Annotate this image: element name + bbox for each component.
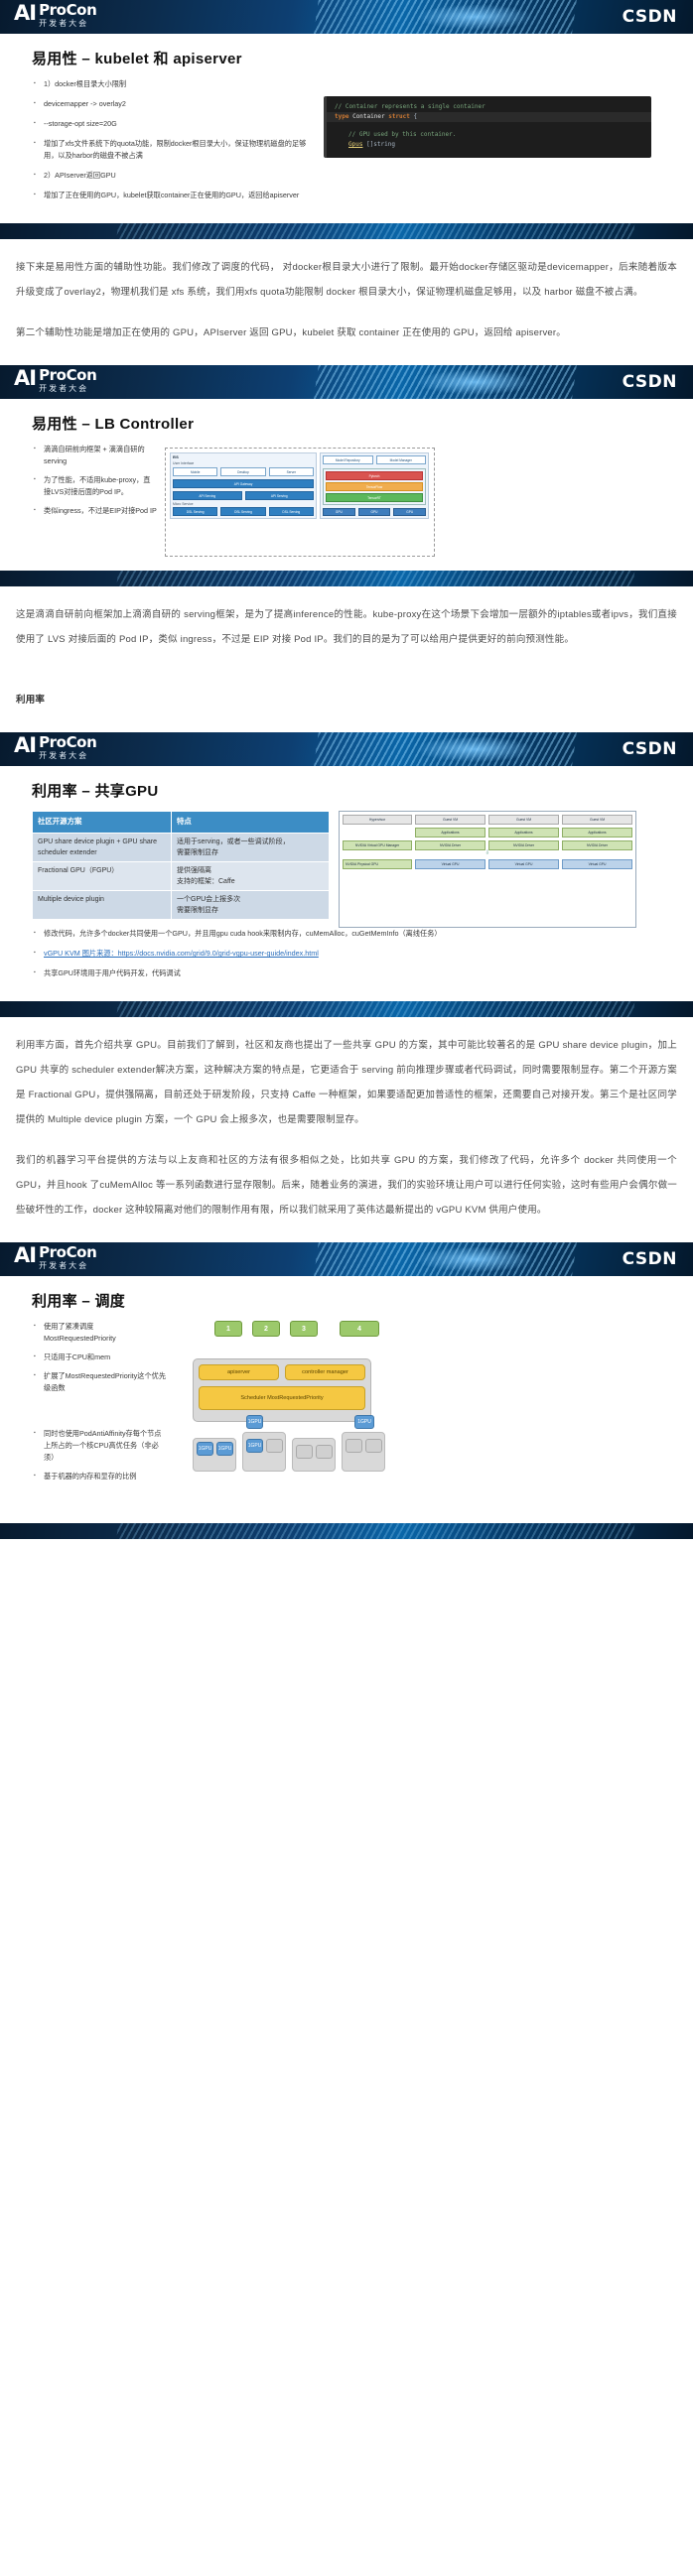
micro-service-label: Micro Service xyxy=(173,502,314,506)
gpu-3: GPU xyxy=(393,508,426,516)
page-title: 利用率 – 调度 xyxy=(32,1290,675,1311)
applications-3: Applications xyxy=(562,828,632,837)
bullet-list: 1）docker根目录大小限制 devicemapper -> overlay2… xyxy=(18,78,316,201)
code-comment-line: // Container represents a single contain… xyxy=(335,102,643,112)
guest-vm-1: Guest VM xyxy=(415,815,485,825)
gpu-empty-slot xyxy=(296,1445,313,1459)
framework-tensorrt: TensorRT xyxy=(326,493,423,502)
footer-rays-decoration xyxy=(113,1001,637,1017)
slide-footer-banner xyxy=(0,571,693,586)
virtual-gpu-2: Virtual GPU xyxy=(488,859,559,869)
code-brace: { xyxy=(414,113,418,120)
logo-mark: AI xyxy=(14,735,36,756)
logo-name: ProCon xyxy=(39,368,96,383)
client-mobile: Mobile xyxy=(173,467,217,476)
node-gpu-group-1: 1GPU 1GPU xyxy=(193,1438,236,1472)
code-struct-line: type Container struct { xyxy=(327,112,651,122)
column-header-solution: 社区开源方案 xyxy=(33,812,172,834)
csdn-logo: CSDN xyxy=(623,1249,677,1269)
nvidia-driver-2: NVIDIA Driver xyxy=(488,840,559,850)
nvidia-driver-1: NVIDIA Driver xyxy=(415,840,485,850)
go-code-snippet: // Container represents a single contain… xyxy=(324,96,651,158)
list-item: 增加了xfs文件系统下的quota功能，限制docker根目录大小，保证物理机磁… xyxy=(34,138,316,162)
footer-rays-decoration xyxy=(113,571,637,586)
guest-vm-3: Guest VM xyxy=(562,815,632,825)
model-manager: Model Manager xyxy=(376,455,427,464)
list-item: --storage-opt size=20G xyxy=(34,118,316,130)
logo-subtitle: 开发者大会 xyxy=(39,751,96,761)
cell-feature: 适用于serving，或者一些调试阶段， 需要限制显存 xyxy=(172,834,330,862)
slide-banner: AI ProCon 开发者大会 CSDN xyxy=(0,1242,693,1276)
list-item: 共享GPU环境用于用户代码开发，代码调试 xyxy=(34,967,675,979)
gpu-empty-slot xyxy=(316,1445,333,1459)
cell-solution: Multiple device plugin xyxy=(33,891,172,920)
logo-name: ProCon xyxy=(39,3,96,18)
slide-share-gpu: AI ProCon 开发者大会 CSDN 利用率 – 共享GPU 社区开源方案 … xyxy=(0,732,693,1017)
logo-mark: AI xyxy=(14,368,36,389)
csdn-logo: CSDN xyxy=(623,739,677,759)
nvidia-physical-gpu: NVIDIA Physical GPU xyxy=(343,859,412,869)
node-1: 1 xyxy=(214,1321,242,1337)
virtual-gpu-1: Virtual GPU xyxy=(415,859,485,869)
list-item: 类似ingress，不过是EIP对接Pod IP xyxy=(34,505,157,517)
node-gpu-group-4: 1GPU xyxy=(342,1432,385,1472)
list-item-vgpu-link[interactable]: vGPU KVM 图片来源：https://docs.nvidia.com/gr… xyxy=(34,948,675,960)
slide-footer-banner xyxy=(0,223,693,239)
logo-mark: AI xyxy=(14,1245,36,1266)
opensource-solutions-table: 社区开源方案 特点 GPU share device plugin + GPU … xyxy=(32,811,330,920)
client-server: Server xyxy=(269,467,314,476)
code-identifier: Container xyxy=(352,113,385,120)
page-title: 易用性 – LB Controller xyxy=(32,413,675,434)
virtual-gpu-3: Virtual GPU xyxy=(562,859,632,869)
narration-paragraph: 第二个辅助性功能是增加正在使用的 GPU，APIserver 返回 GPU，ku… xyxy=(16,321,677,345)
footer-rays-decoration xyxy=(113,1523,637,1539)
dsl-serving-3: DSL Serving xyxy=(269,507,314,516)
column-header-feature: 特点 xyxy=(172,812,330,834)
code-field-type: []string xyxy=(366,141,395,148)
logo-subtitle: 开发者大会 xyxy=(39,1261,96,1271)
list-item: 2）APIserver返回GPU xyxy=(34,170,316,182)
node-gpu-group-3 xyxy=(292,1438,336,1472)
page-title: 利用率 – 共享GPU xyxy=(32,780,675,801)
cell-solution: GPU share device plugin + GPU share sche… xyxy=(33,834,172,862)
slide-lb-controller: AI ProCon 开发者大会 CSDN 易用性 – LB Controller… xyxy=(0,365,693,586)
narration-paragraph: 接下来是易用性方面的辅助性功能。我们修改了调度的代码， 对docker根目录大小… xyxy=(16,255,677,305)
logo-subtitle: 开发者大会 xyxy=(39,19,96,29)
client-desktop: Desktop xyxy=(220,467,265,476)
api-serving-1: API Serving xyxy=(173,491,242,500)
narration-paragraph: 利用率方面，首先介绍共享 GPU。目前我们了解到，社区和友商也提出了一些共享 G… xyxy=(16,1033,677,1132)
hypervisor-label: Hypervisor xyxy=(343,815,412,825)
logo-name: ProCon xyxy=(39,1245,96,1260)
api-serving-2: API Serving xyxy=(245,491,315,500)
page-title: 易用性 – kubelet 和 apiserver xyxy=(32,48,675,68)
aiprocon-logo: AI ProCon 开发者大会 xyxy=(14,3,96,29)
logo-mark: AI xyxy=(14,3,36,24)
gpu-label: 1GPU xyxy=(354,1415,374,1429)
nvidia-doc-link[interactable]: vGPU KVM 图片来源：https://docs.nvidia.com/gr… xyxy=(44,949,319,958)
list-item: 使用了紧凑调度 MostRequestedPriority xyxy=(34,1321,167,1345)
narration-section-heading: 利用率 xyxy=(16,688,677,712)
model-panel: Model Repository Model Manager Pytorch T… xyxy=(320,452,429,519)
banner-rays-decoration xyxy=(312,1242,578,1276)
gpu-label: 1GPU xyxy=(246,1415,263,1429)
slide-banner: AI ProCon 开发者大会 CSDN xyxy=(0,365,693,399)
dsl-serving-1: DSL Serving xyxy=(173,507,217,516)
notes-list: 修改代码，允许多个docker共同使用一个GPU，并且用gpu cuda hoo… xyxy=(18,928,675,979)
framework-tensorflow: TensorFlow xyxy=(326,482,423,491)
list-item: 修改代码，允许多个docker共同使用一个GPU，并且用gpu cuda hoo… xyxy=(34,928,675,940)
bullet-list: 滴滴自研前向框架 + 滴滴自研的 serving 为了性能，不适用kube-pr… xyxy=(18,444,157,517)
csdn-logo: CSDN xyxy=(623,372,677,392)
gpu-1: GPU xyxy=(323,508,355,516)
scheduler-diagram: 1 2 3 4 apiserver controller manager Sch… xyxy=(175,1321,473,1509)
aiprocon-logo: AI ProCon 开发者大会 xyxy=(14,1245,96,1271)
guest-vm-2: Guest VM xyxy=(488,815,559,825)
table-row: Multiple device plugin 一个GPU会上报多次 需要限制显存 xyxy=(33,891,330,920)
eis-title: EIS xyxy=(173,455,314,459)
code-field-name: Gpus xyxy=(348,141,362,148)
code-comment-gpu: // GPU used by this container. xyxy=(335,130,456,140)
aiprocon-logo: AI ProCon 开发者大会 xyxy=(14,735,96,761)
gpu-empty-slot xyxy=(346,1439,362,1453)
gpu-empty-slot xyxy=(365,1439,382,1453)
serving-architecture-diagram: EIS User Interface Mobile Desktop Server… xyxy=(165,448,435,557)
gpu-empty-slot xyxy=(266,1439,283,1453)
list-item: 扩展了MostRequestedPriority这个优先级函数 xyxy=(34,1370,167,1394)
slide-banner: AI ProCon 开发者大会 CSDN xyxy=(0,732,693,766)
slide-banner: AI ProCon 开发者大会 CSDN xyxy=(0,0,693,34)
node-4: 4 xyxy=(340,1321,379,1337)
banner-rays-decoration xyxy=(312,732,578,766)
dsl-serving-2: DSL Serving xyxy=(220,507,265,516)
api-gateway-1: API Gateway xyxy=(173,479,314,488)
slide-scheduling: AI ProCon 开发者大会 CSDN 利用率 – 调度 使用了紧凑调度 Mo… xyxy=(0,1242,693,1539)
nvidia-virtual-gpu-manager: NVIDIA Virtual GPU Manager xyxy=(343,840,412,850)
gpu-label: 1GPU xyxy=(216,1442,233,1456)
list-item: 滴滴自研前向框架 + 滴滴自研的 serving xyxy=(34,444,157,467)
banner-rays-decoration xyxy=(312,365,578,399)
node-3: 3 xyxy=(290,1321,318,1337)
banner-rays-decoration xyxy=(312,0,578,34)
slide-kubelet-apiserver: AI ProCon 开发者大会 CSDN 易用性 – kubelet 和 api… xyxy=(0,0,693,239)
gpu-label: 1GPU xyxy=(246,1439,263,1453)
framework-pytorch: Pytorch xyxy=(326,471,423,480)
list-item: 同时也使用PodAntiAffinity存每个节点上所占的一个核CPU高优任务（… xyxy=(34,1428,167,1464)
control-plane-panel: apiserver controller manager Scheduler M… xyxy=(193,1358,371,1422)
applications-1: Applications xyxy=(415,828,485,837)
logo-subtitle: 开发者大会 xyxy=(39,384,96,394)
slide-deck-page: AI ProCon 开发者大会 CSDN 易用性 – kubelet 和 api… xyxy=(0,0,693,1539)
arrow-down-icon: ⇩ xyxy=(343,850,632,856)
list-item: 1）docker根目录大小限制 xyxy=(34,78,316,90)
csdn-logo: CSDN xyxy=(623,7,677,27)
slide-footer-banner xyxy=(0,1523,693,1539)
logo-name: ProCon xyxy=(39,735,96,750)
apiserver-box: apiserver xyxy=(199,1364,279,1380)
nvidia-driver-3: NVIDIA Driver xyxy=(562,840,632,850)
list-item: 只适用于CPU和mem xyxy=(34,1352,167,1363)
applications-2: Applications xyxy=(488,828,559,837)
node-gpu-group-2: 1GPU 1GPU xyxy=(242,1432,286,1472)
code-field-line: Gpus []string xyxy=(335,140,643,150)
list-item: 增加了正在使用的GPU，kubelet获取container正在使用的GPU，返… xyxy=(34,190,316,201)
code-keyword-struct: struct xyxy=(388,113,410,120)
table-row: GPU share device plugin + GPU share sche… xyxy=(33,834,330,862)
aiprocon-logo: AI ProCon 开发者大会 xyxy=(14,368,96,394)
slide-footer-banner xyxy=(0,1001,693,1017)
narration-paragraph: 这是滴滴自研前向框架加上滴滴自研的 serving框架，是为了提高inferen… xyxy=(16,602,677,652)
user-interface-label: User Interface xyxy=(173,461,314,465)
nvidia-vgpu-diagram: Hypervisor Guest VM Guest VM Guest VM Ap… xyxy=(339,811,636,928)
gpu-label: 1GPU xyxy=(197,1442,213,1456)
footer-rays-decoration xyxy=(113,223,637,239)
cell-feature: 提供强隔离 支持的框架：Caffe xyxy=(172,862,330,891)
list-item: 基于机器的内存和显存的比例 xyxy=(34,1471,167,1482)
node-2: 2 xyxy=(252,1321,280,1337)
narration-paragraph: 我们的机器学习平台提供的方法与以上友商和社区的方法有很多相似之处，比如共享 GP… xyxy=(16,1148,677,1223)
list-item: 为了性能，不适用kube-proxy，直接LVS对接后面的Pod IP。 xyxy=(34,474,157,498)
cell-solution: Fractional GPU（FGPU） xyxy=(33,862,172,891)
bullet-list: 使用了紧凑调度 MostRequestedPriority 只适用于CPU和me… xyxy=(18,1321,167,1482)
cell-feature: 一个GPU会上报多次 需要限制显存 xyxy=(172,891,330,920)
model-repository: Model Repository xyxy=(323,455,373,464)
code-keyword-type: type xyxy=(335,113,348,120)
table-header-row: 社区开源方案 特点 xyxy=(33,812,330,834)
list-item: devicemapper -> overlay2 xyxy=(34,98,316,110)
table-row: Fractional GPU（FGPU） 提供强隔离 支持的框架：Caffe xyxy=(33,862,330,891)
eis-panel: EIS User Interface Mobile Desktop Server… xyxy=(170,452,317,519)
gpu-2: GPU xyxy=(358,508,391,516)
scheduler-box: Scheduler MostRequestedPriority xyxy=(199,1386,365,1410)
controller-manager-box: controller manager xyxy=(285,1364,365,1380)
